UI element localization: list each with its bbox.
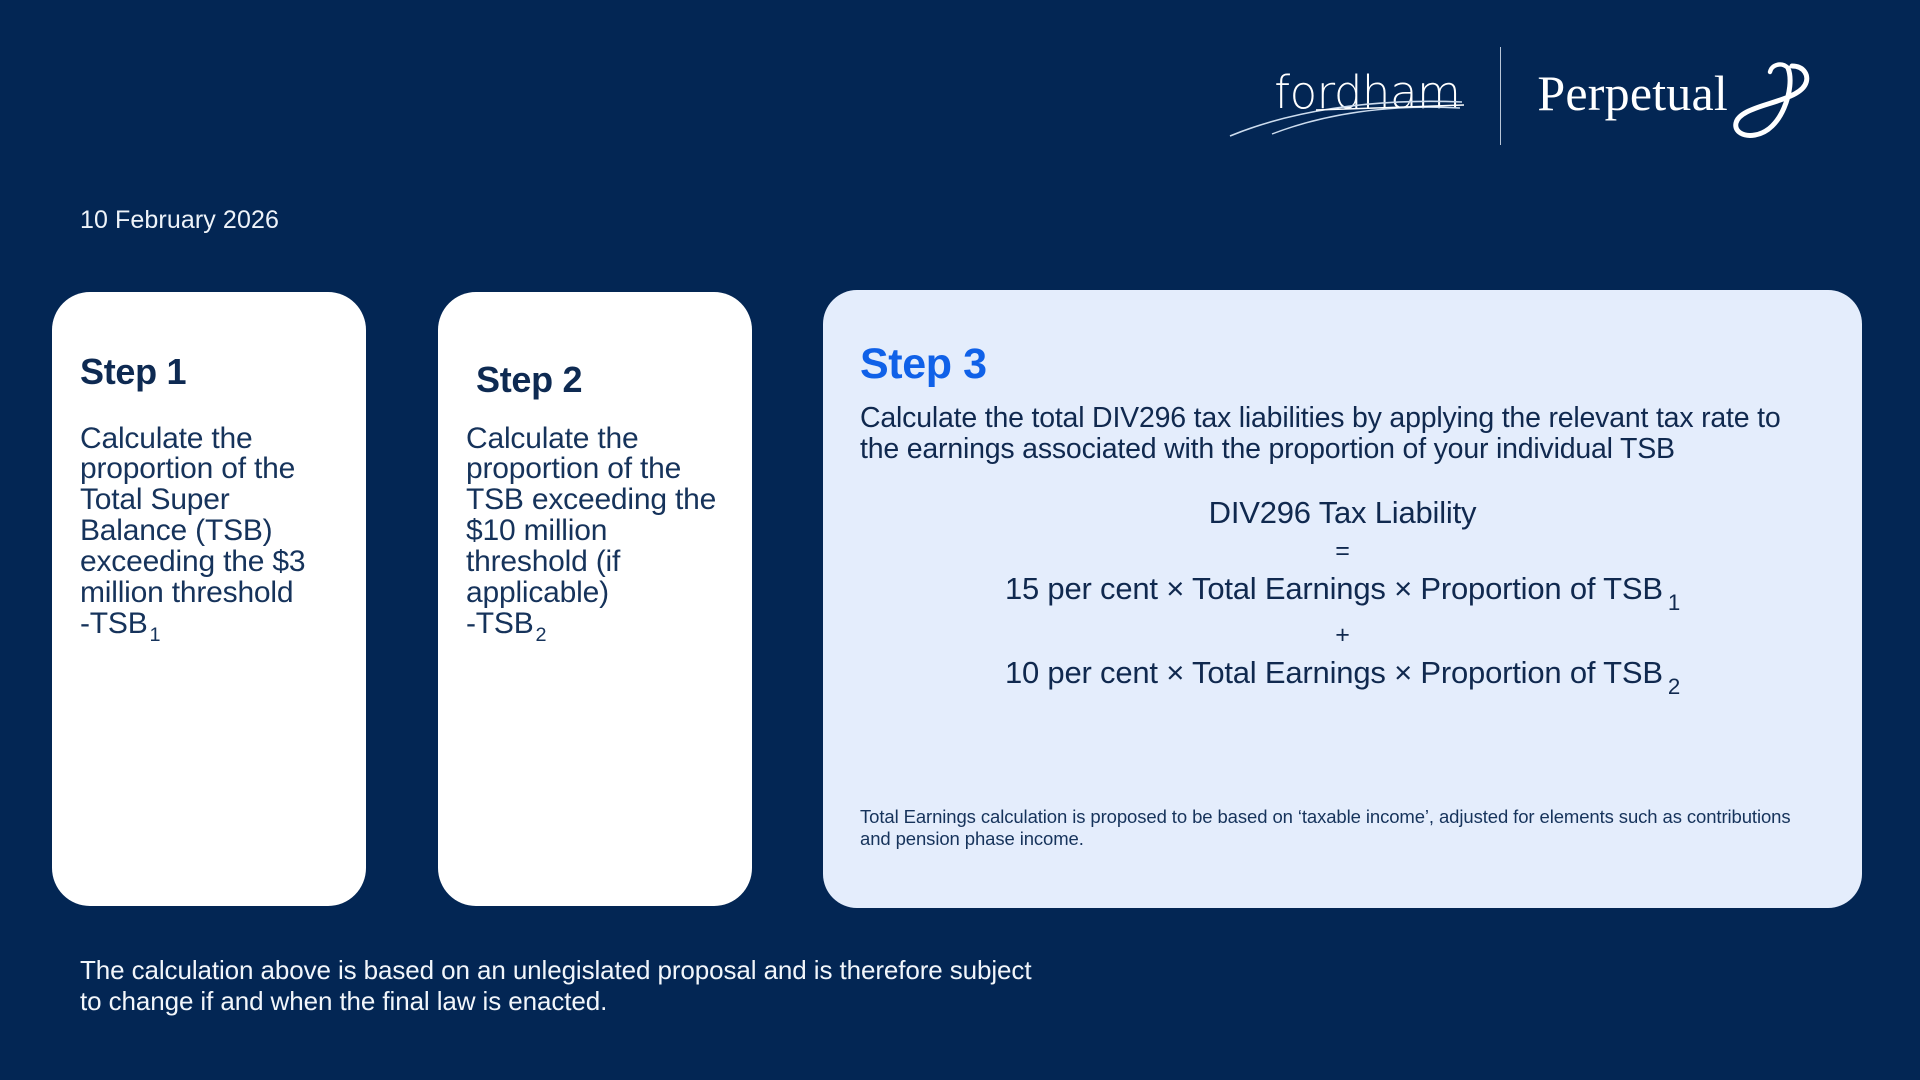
step-1-symbol-subscript: 1 bbox=[148, 624, 161, 646]
step-2-heading: Step 2 bbox=[476, 360, 752, 400]
div296-formula: DIV296 Tax Liability = 15 per cent × Tot… bbox=[823, 494, 1862, 702]
formula-plus: + bbox=[823, 617, 1862, 653]
formula-term-1-subscript: 1 bbox=[1663, 590, 1680, 615]
formula-term-1-text: 15 per cent × Total Earnings × Proportio… bbox=[1005, 571, 1663, 606]
disclaimer-text: The calculation above is based on an unl… bbox=[80, 955, 1040, 1016]
perpetual-wordmark: Perpetual bbox=[1537, 68, 1728, 124]
logo-divider bbox=[1500, 47, 1501, 145]
step-1-heading: Step 1 bbox=[80, 352, 366, 392]
fordham-logo: fordham bbox=[1234, 46, 1464, 146]
formula-term-2: 10 per cent × Total Earnings × Proportio… bbox=[823, 653, 1862, 701]
formula-term-2-text: 10 per cent × Total Earnings × Proportio… bbox=[1005, 655, 1663, 690]
step-3-heading: Step 3 bbox=[860, 342, 1862, 387]
step-card-2: Step 2 Calculate the proportion of the T… bbox=[438, 292, 752, 906]
step-1-symbol-text: -TSB bbox=[80, 607, 148, 640]
step-2-body: Calculate the proportion of the TSB exce… bbox=[466, 424, 732, 646]
step-3-panel: Step 3 Calculate the total DIV296 tax li… bbox=[823, 290, 1862, 908]
date-label: 10 February 2026 bbox=[80, 206, 279, 235]
step-3-intro: Calculate the total DIV296 tax liabiliti… bbox=[860, 403, 1812, 466]
formula-title: DIV296 Tax Liability bbox=[823, 494, 1862, 533]
step-3-note: Total Earnings calculation is proposed t… bbox=[860, 806, 1816, 850]
perpetual-logo: Perpetual bbox=[1537, 46, 1812, 146]
perpetual-flourish-icon bbox=[1722, 50, 1812, 142]
step-1-body-text: Calculate the proportion of the Total Su… bbox=[80, 422, 305, 609]
step-1-symbol: -TSB1 bbox=[80, 609, 340, 646]
step-2-body-text: Calculate the proportion of the TSB exce… bbox=[466, 422, 716, 609]
formula-equals: = bbox=[823, 533, 1862, 569]
fordham-wordmark: fordham bbox=[1274, 70, 1460, 123]
formula-term-2-subscript: 2 bbox=[1663, 674, 1680, 699]
step-card-1: Step 1 Calculate the proportion of the T… bbox=[52, 292, 366, 906]
step-2-symbol-text: -TSB bbox=[466, 607, 534, 640]
step-2-symbol: -TSB2 bbox=[466, 609, 732, 646]
formula-term-1: 15 per cent × Total Earnings × Proportio… bbox=[823, 569, 1862, 617]
step-1-body: Calculate the proportion of the Total Su… bbox=[80, 424, 340, 646]
step-2-symbol-subscript: 2 bbox=[534, 624, 547, 646]
brand-logo-bar: fordham Perpetual bbox=[1234, 42, 1812, 150]
